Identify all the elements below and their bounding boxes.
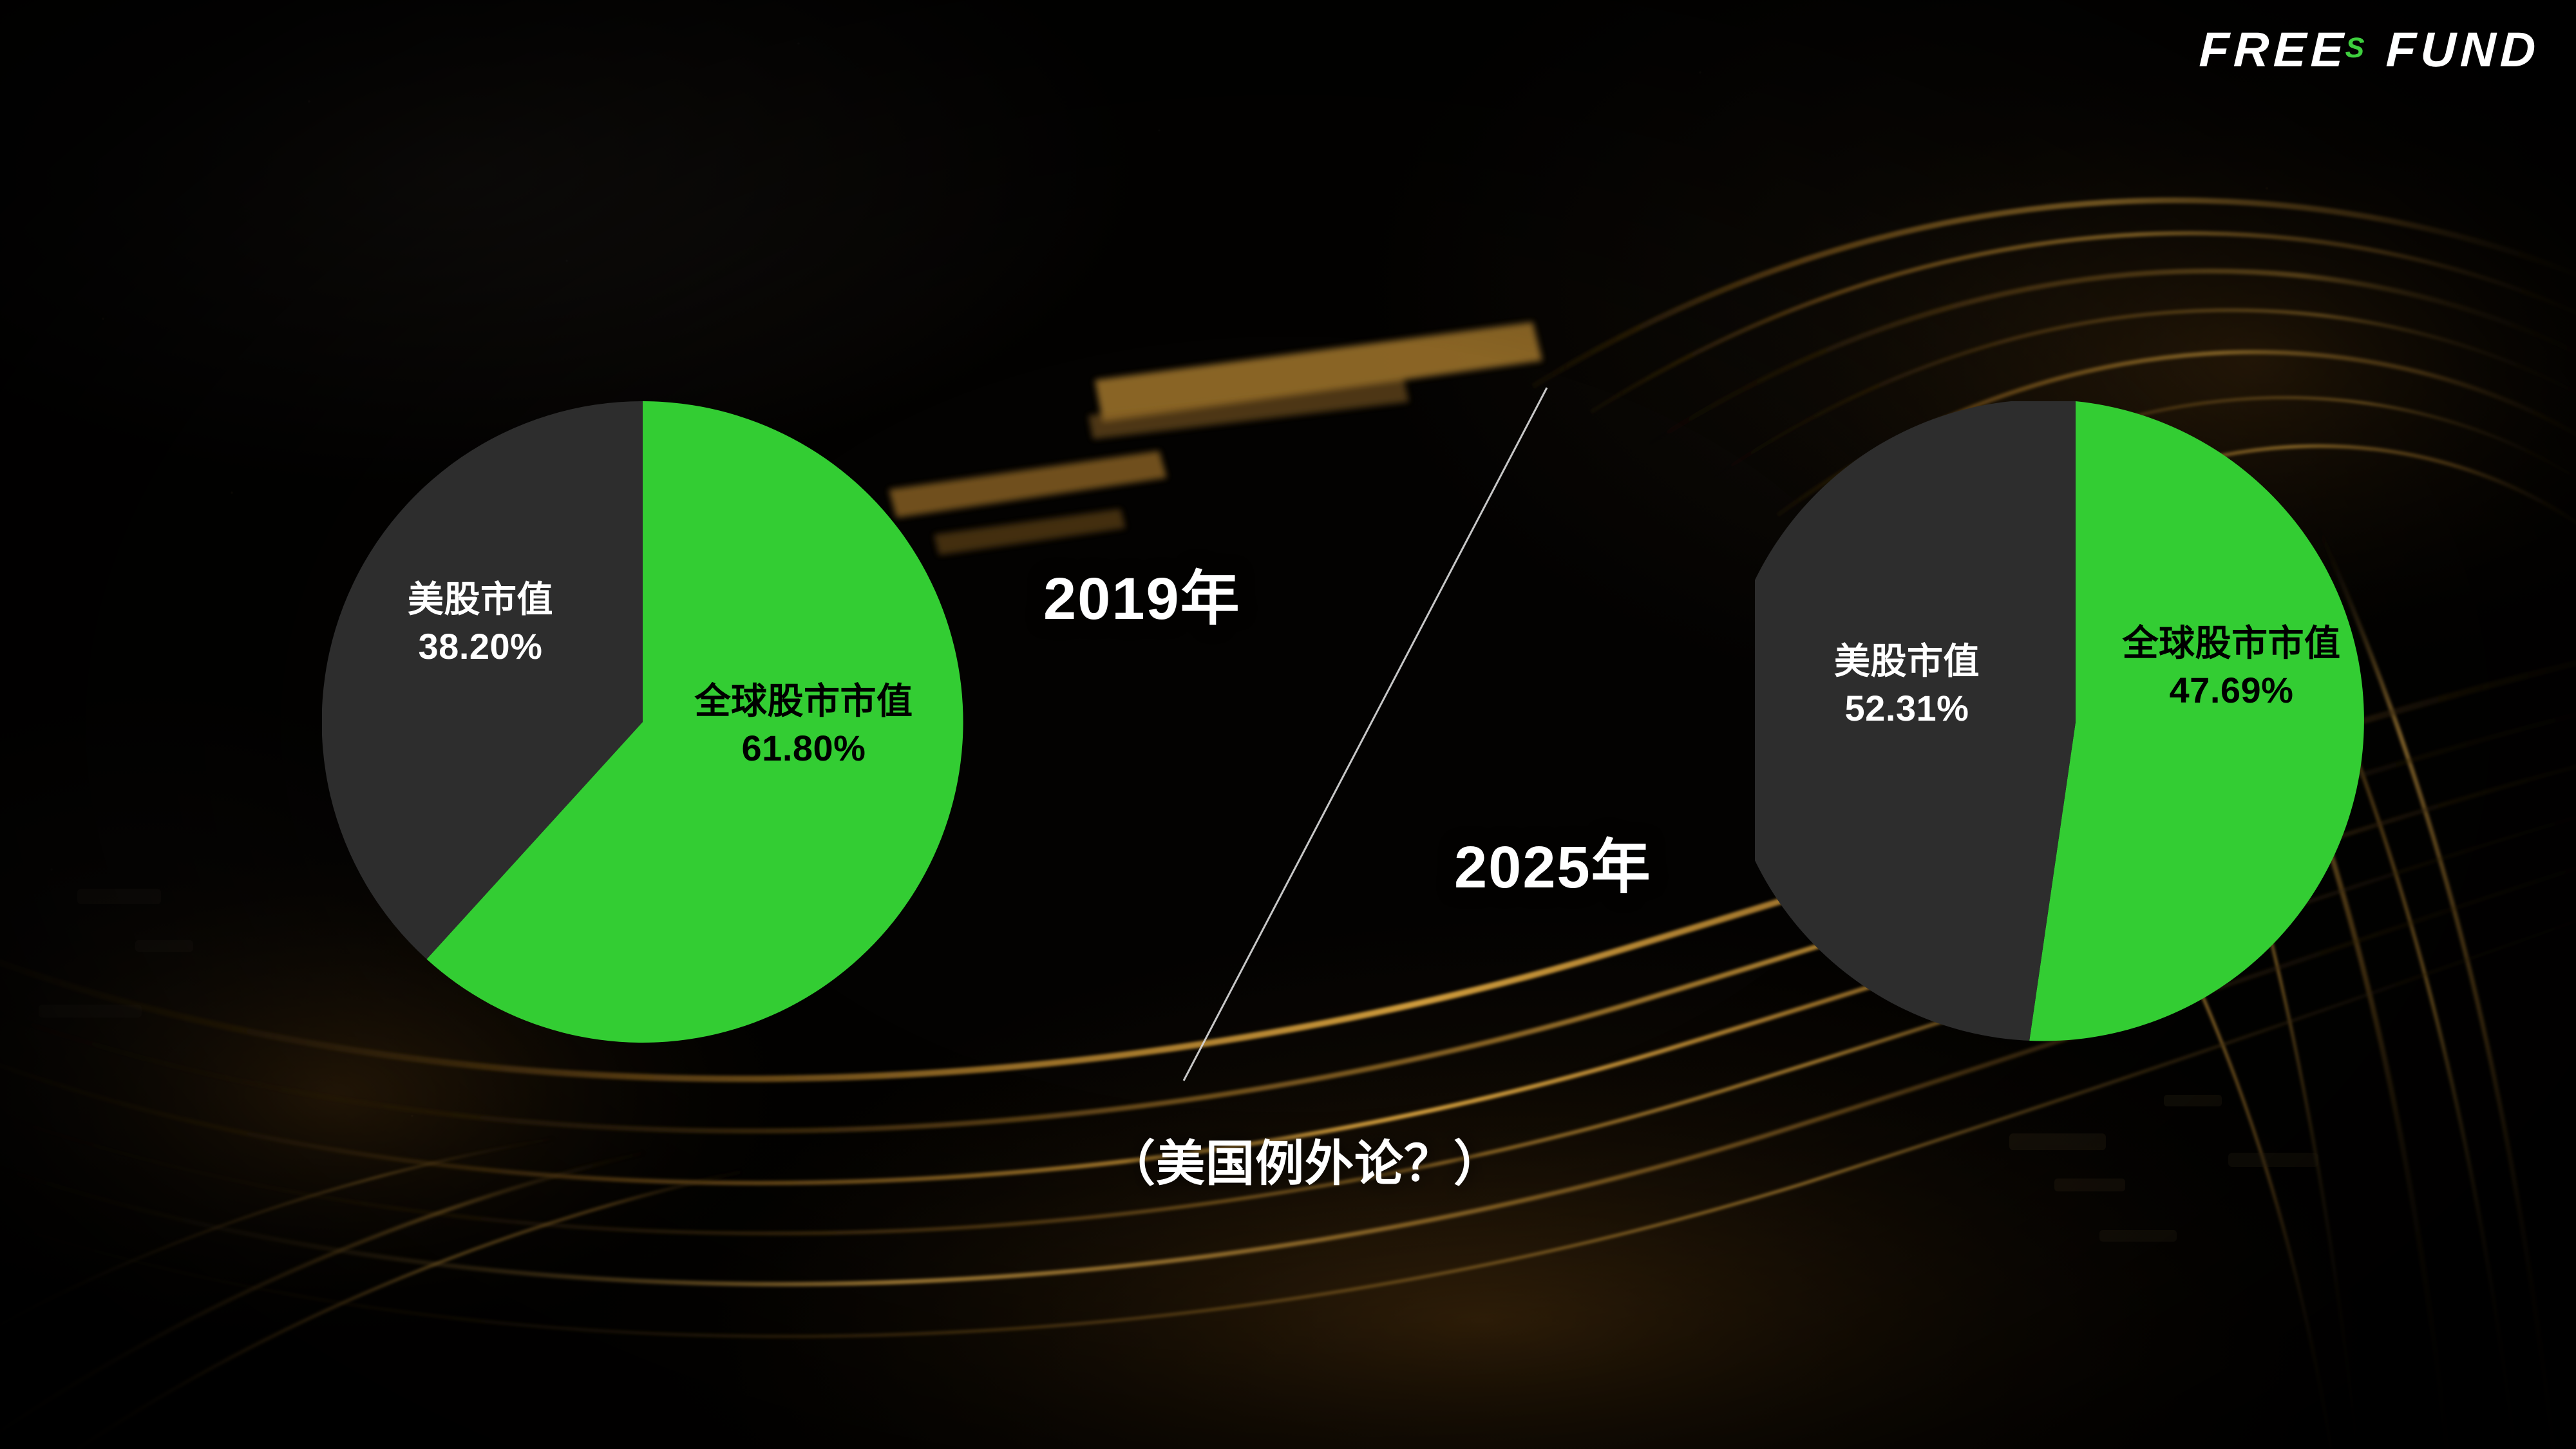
pie-2025-label-global: 全球股市市值 47.69% bbox=[2090, 620, 2373, 714]
slide-canvas: FREES FUND 美股市值 38.20% 全球股市市值 61.80% bbox=[0, 0, 2576, 1449]
slide-caption: （美国例外论？） bbox=[1106, 1124, 1503, 1195]
pie-2025-slice-global bbox=[2029, 401, 2364, 1041]
year-label-2019: 2019年 bbox=[1043, 551, 1241, 636]
pie-2019-label-us: 美股市值 38.20% bbox=[365, 576, 596, 670]
logo-superscript-s: S bbox=[2345, 32, 2365, 64]
brand-logo: FREES FUND bbox=[2199, 26, 2541, 75]
pie-2019-label-global: 全球股市市值 61.80% bbox=[662, 678, 945, 772]
logo-main-text: FREE bbox=[2198, 23, 2349, 77]
logo-secondary-text: FUND bbox=[2385, 26, 2541, 75]
diagonal-divider-line bbox=[1184, 388, 1547, 1081]
pie-chart-2019[interactable]: 美股市值 38.20% 全球股市市值 61.80% bbox=[322, 401, 963, 1043]
pie-chart-2025[interactable]: 美股市值 52.31% 全球股市市值 47.69% bbox=[1755, 401, 2396, 1043]
pie-2025-label-us: 美股市值 52.31% bbox=[1791, 638, 2023, 732]
year-label-2025: 2025年 bbox=[1454, 819, 1652, 905]
